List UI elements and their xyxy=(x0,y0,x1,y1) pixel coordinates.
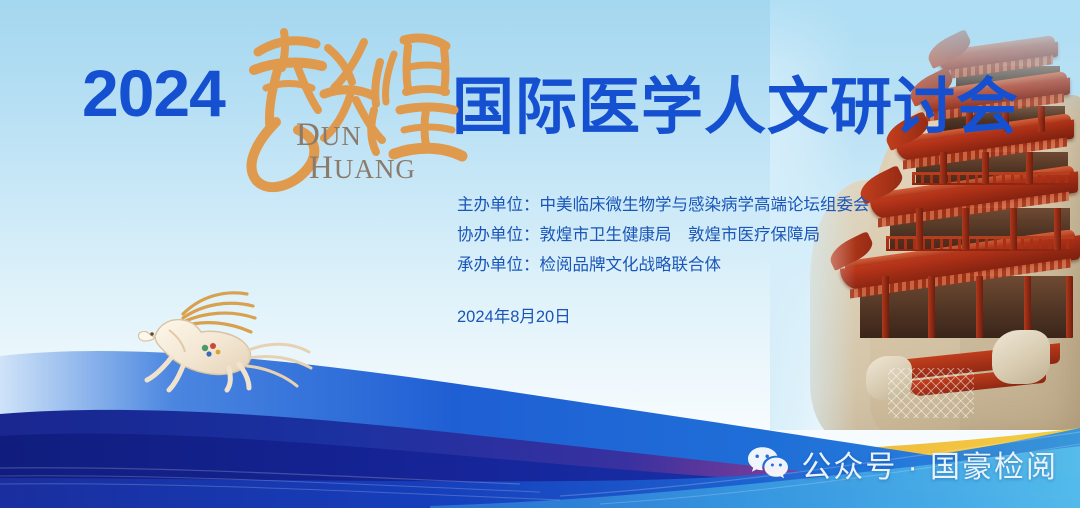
pagoda-eave-tier-4 xyxy=(870,186,1078,207)
pagoda-pillar xyxy=(962,208,969,250)
pinyin-dun: DUN xyxy=(296,117,362,154)
organizer-block: 主办单位：中美临床微生物学与感染病学高端论坛组委会 协办单位：敦煌市卫生健康局 … xyxy=(457,190,870,280)
wechat-watermark: 公众号 · 国豪检阅 xyxy=(746,442,1058,486)
pagoda-balustrade xyxy=(886,236,1074,251)
pagoda-eave-tier-5 xyxy=(840,252,1080,276)
organizer-line-coorganizer: 协办单位：敦煌市卫生健康局 敦煌市医疗保障局 xyxy=(457,220,870,250)
pagoda-pillar xyxy=(1026,152,1033,184)
page-title: 国际医学人文研讨会 xyxy=(452,56,1019,146)
event-date: 2024年8月20日 xyxy=(457,303,571,327)
organizer-line-executor: 承办单位：检阅品牌文化战略联合体 xyxy=(457,250,870,280)
pagoda-pillar xyxy=(940,152,947,184)
pagoda-pillar xyxy=(916,208,923,250)
year-2024: 2024 xyxy=(82,55,225,131)
pagoda-pillar xyxy=(1010,208,1017,250)
pinyin-huang: HUANG xyxy=(309,150,416,187)
organizer-line-host: 主办单位：中美临床微生物学与感染病学高端论坛组委会 xyxy=(457,190,870,220)
conference-poster: 2024 xyxy=(0,0,1080,508)
pagoda-pillar xyxy=(1054,208,1061,250)
pagoda-balustrade xyxy=(912,172,1070,185)
watermark-text: 公众号 · 国豪检阅 xyxy=(801,442,1058,486)
pagoda-pillar xyxy=(982,152,989,184)
wechat-icon xyxy=(746,445,790,483)
nine-colored-deer-icon xyxy=(125,280,325,395)
